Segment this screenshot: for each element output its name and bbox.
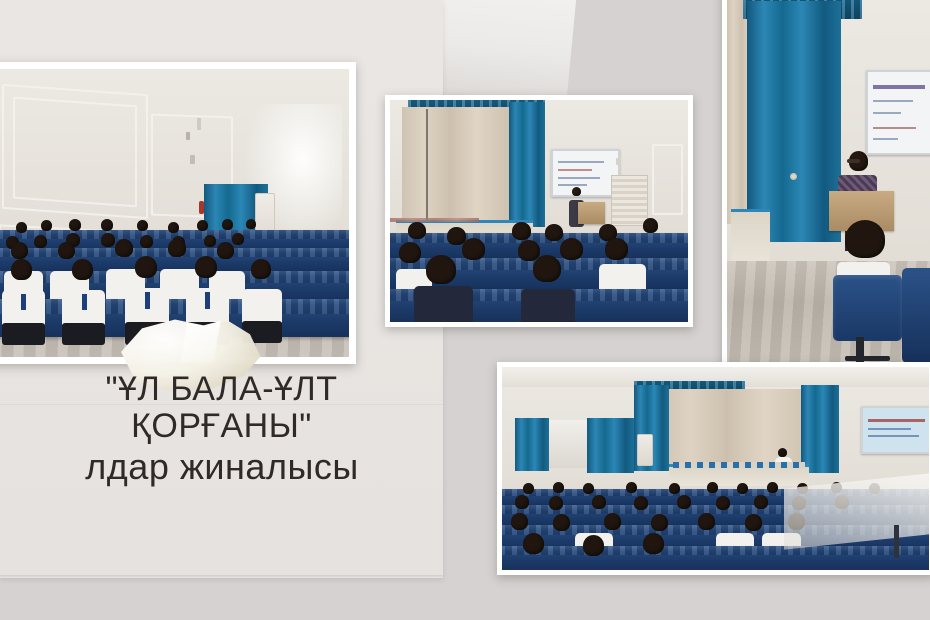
photo-image-hall-mid (390, 100, 688, 322)
photo-assembly-hall-with-projector[interactable] (385, 95, 693, 327)
photo-image-hall-wide (502, 367, 929, 570)
collage-canvas: "ҰЛ БАЛА-ҰЛТ ҚОРҒАНЫ" лдар жиналысы (0, 0, 930, 620)
collage-caption: "ҰЛ БАЛА-ҰЛТ ҚОРҒАНЫ" лдар жиналысы (0, 372, 443, 485)
photo-image-hall-front (0, 69, 349, 357)
photo-speaker-at-podium[interactable] (722, 0, 930, 368)
caption-line-2: ҚОРҒАНЫ" (0, 409, 443, 444)
photo-assembly-hall-wide-view[interactable] (497, 362, 930, 575)
photo-image-speaker (727, 0, 930, 363)
photo-assembly-hall-front-rows[interactable] (0, 62, 356, 364)
caption-line-3: лдар жиналысы (0, 448, 462, 485)
caption-line-1: "ҰЛ БАЛА-ҰЛТ (0, 372, 443, 407)
